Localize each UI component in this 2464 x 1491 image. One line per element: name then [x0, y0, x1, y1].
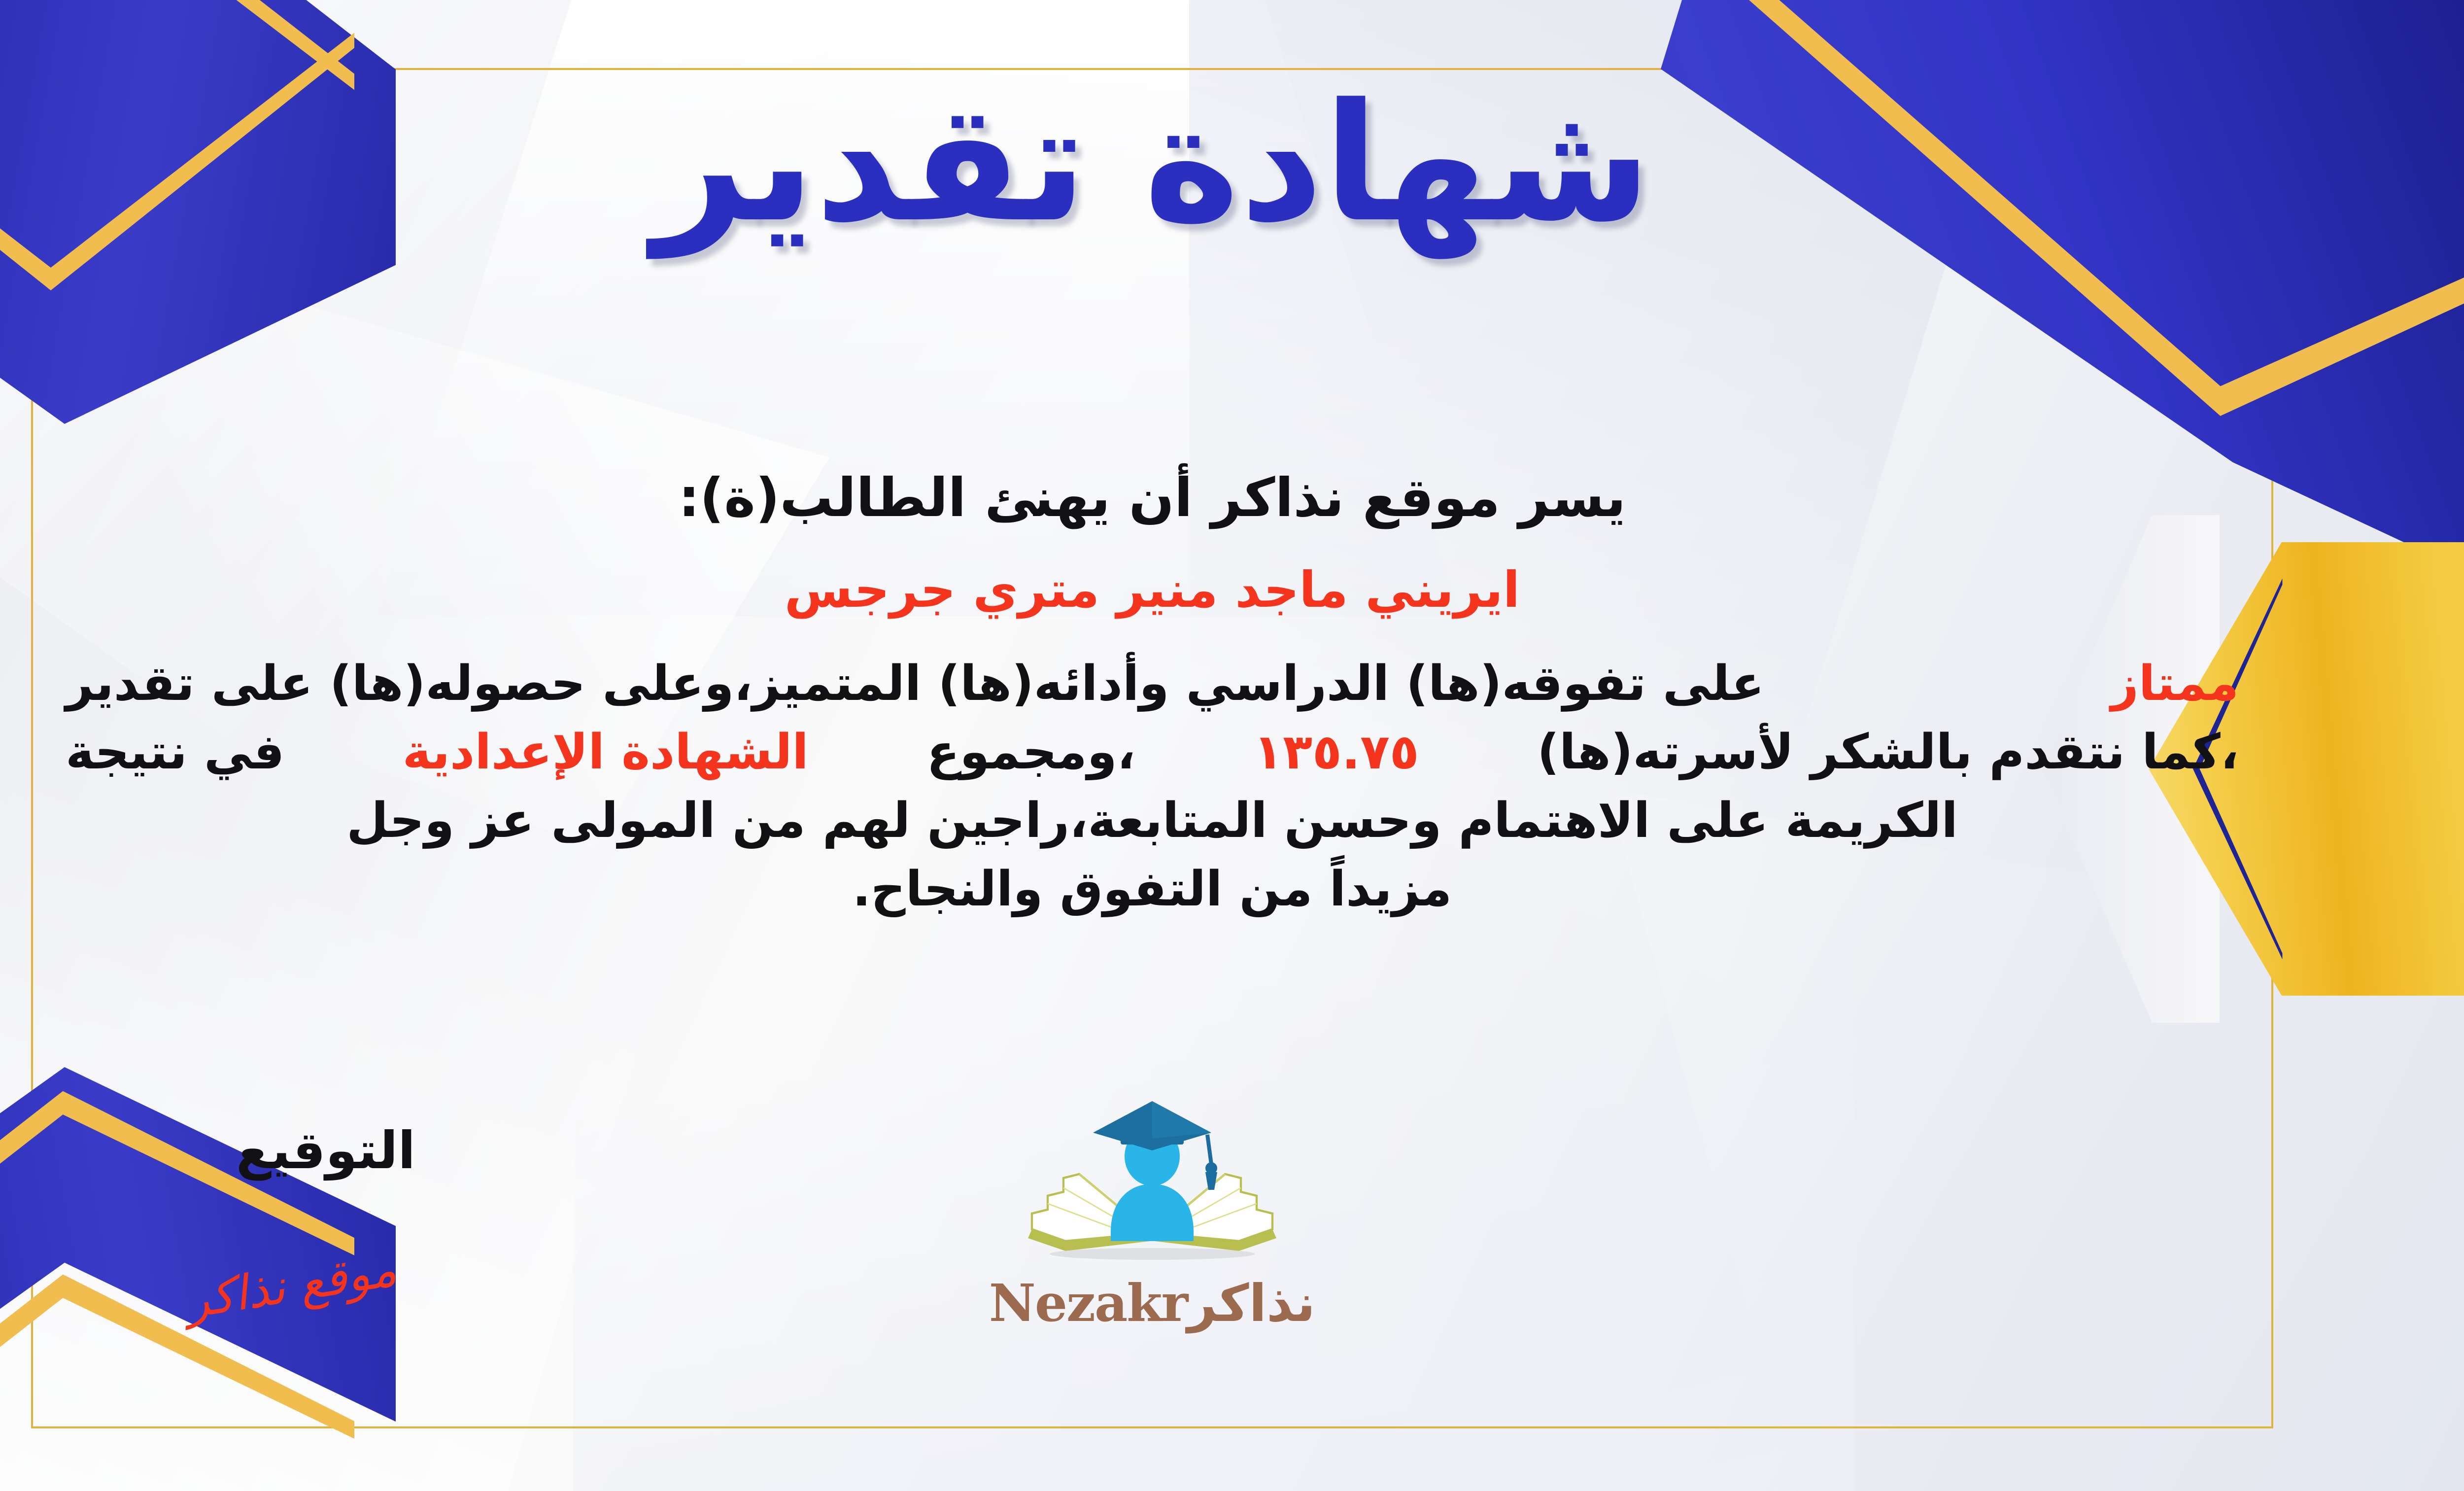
certificate-content: شهادة تقدير يسر موقع نذاكر أن يهنئ الطال… — [31, 68, 2273, 1428]
body-line-wish: مزيداً من التفوق والنجاح. — [51, 855, 2254, 924]
body-line-gratitude: الكريمة على الاهتمام وحسن المتابعة،راجين… — [51, 787, 2254, 855]
student-name: ايريني ماجد منير متري جرجس — [31, 561, 2273, 619]
thanks-text: ،كما نتقدم بالشكر لأسرته(ها) — [1537, 718, 2239, 787]
logo-latin-text: Nezakr — [989, 1273, 1188, 1333]
certificate-body: ممتاز على تفوقه(ها) الدراسي وأدائه(ها) ا… — [31, 650, 2273, 924]
score-group: ١٣٥.٧٥ — [1253, 718, 1419, 787]
logo-arabic-text: نذاكر — [1187, 1273, 1315, 1333]
total-score-value: ١٣٥.٧٥ — [1253, 724, 1419, 780]
intro-text: يسر موقع نذاكر أن يهنئ الطالب(ة): — [31, 467, 2273, 529]
result-label: في نتيجة — [66, 718, 284, 787]
logo-wordmark: نذاكرNezakr — [980, 1273, 1325, 1333]
certificate-title: شهادة تقدير — [31, 78, 2273, 249]
brand-logo: نذاكرNezakr — [980, 1093, 1325, 1333]
total-label: ،ومجموع — [926, 718, 1135, 787]
signature-script: موقع نذاكر — [182, 1242, 400, 1329]
grade-value: ممتاز — [2111, 650, 2239, 718]
certificate-page: شهادة تقدير يسر موقع نذاكر أن يهنئ الطال… — [0, 0, 2464, 1491]
body-line-achievement: ممتاز على تفوقه(ها) الدراسي وأدائه(ها) ا… — [51, 650, 2254, 718]
body-line-exam: ،كما نتقدم بالشكر لأسرته(ها) ١٣٥.٧٥ ،ومج… — [51, 718, 2254, 787]
graduate-book-icon — [1014, 1093, 1290, 1271]
body-line-achievement-text: على تفوقه(ها) الدراسي وأدائه(ها) المتميز… — [66, 650, 1764, 718]
signature-label: التوقيع — [236, 1120, 415, 1180]
exam-name: الشهادة الإعدادية — [403, 718, 809, 787]
